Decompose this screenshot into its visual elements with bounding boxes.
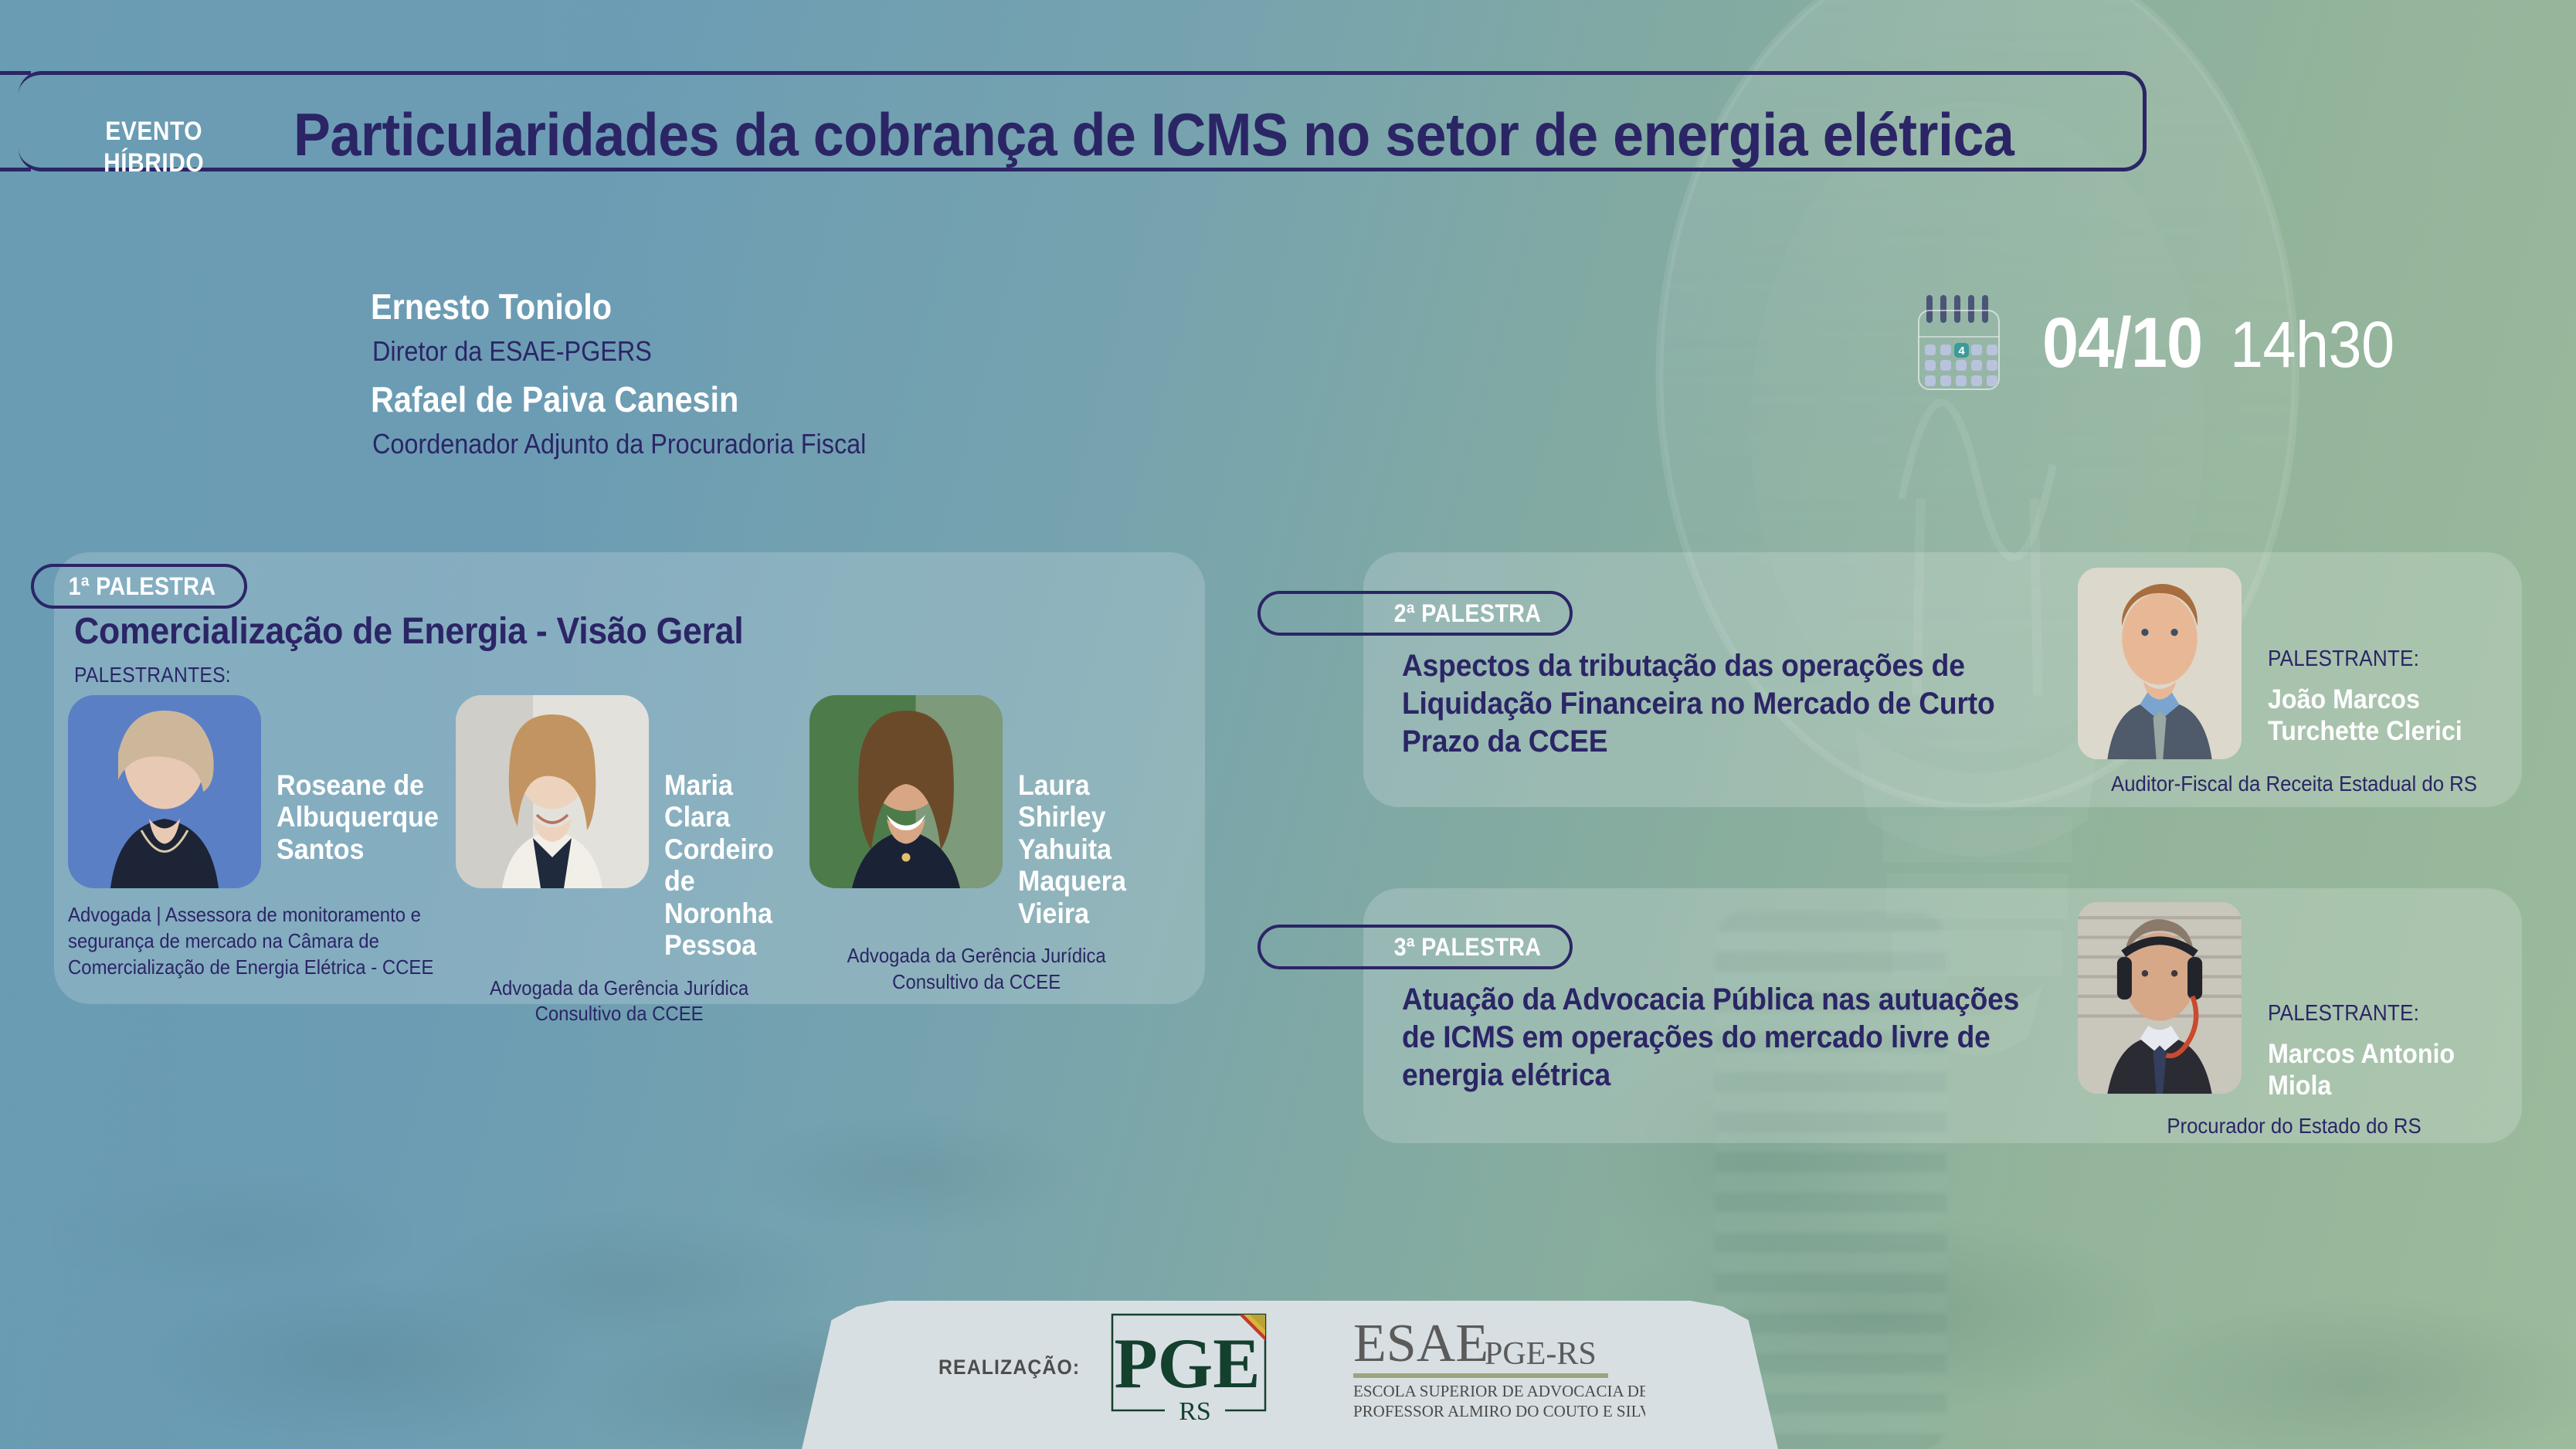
speaker-role-label: PALESTRANTE: xyxy=(2268,646,2486,672)
pge-rs-logo: PGE RS xyxy=(1106,1312,1284,1429)
schedule-block: 4 04/10 14h30 xyxy=(1916,294,2408,392)
talk-badge-label: 1ª PALESTRA xyxy=(69,572,216,601)
footer-bar xyxy=(742,1299,1838,1449)
speakers-label: PALESTRANTES: xyxy=(74,663,231,687)
esae-logo-line2: PROFESSOR ALMIRO DO COUTO E SILVA xyxy=(1353,1402,1645,1420)
talk-title-1: Comercialização de Energia - Visão Geral xyxy=(74,610,1065,653)
speaker-name: Laura Shirley Yahuita Maquera Vieira xyxy=(1018,769,1146,929)
event-date: 04/10 xyxy=(2042,303,2202,384)
avatar xyxy=(809,695,1003,888)
talk-badge-1: 1ª PALESTRA xyxy=(31,564,247,609)
talk-badge-label: 2ª PALESTRA xyxy=(1394,599,1542,628)
host-position: Diretor da ESAE-PGERS xyxy=(372,335,652,368)
avatar xyxy=(2078,902,2242,1094)
speaker-name: Maria Clara Cordeiro de Noronha Pessoa xyxy=(664,769,785,962)
speaker-card: Laura Shirley Yahuita Maquera Vieira Adv… xyxy=(809,695,1157,996)
speaker-card: Roseane de Albuquerque Santos Advogada |… xyxy=(68,695,470,980)
speaker-name: Roseane de Albuquerque Santos xyxy=(277,769,454,865)
event-type-line1: EVENTO xyxy=(93,116,215,148)
esae-logo-text: ESAE xyxy=(1353,1314,1488,1373)
event-poster: EVENTO HÍBRIDO Particularidades da cobra… xyxy=(0,0,2576,1449)
avatar xyxy=(456,695,649,888)
speaker-name: João Marcos Turchette Clerici xyxy=(2268,684,2491,747)
avatar xyxy=(2078,568,2242,759)
esae-pge-rs-logo: ESAE PGE-RS ESCOLA SUPERIOR DE ADVOCACIA… xyxy=(1352,1313,1645,1429)
pge-logo-text: PGE xyxy=(1114,1324,1260,1403)
calendar-icon: 4 xyxy=(1916,294,2007,392)
event-time: 14h30 xyxy=(2230,307,2394,382)
talk-badge-2: 2ª PALESTRA xyxy=(1257,591,1573,636)
esae-logo-line1: ESCOLA SUPERIOR DE ADVOCACIA DE ESTADO xyxy=(1353,1382,1645,1400)
host-name: Rafael de Paiva Canesin xyxy=(371,378,738,420)
speaker-role-label: PALESTRANTE: xyxy=(2268,1001,2486,1027)
speaker-position: Procurador do Estado do RS xyxy=(2095,1114,2493,1138)
speaker-card: PALESTRANTE: João Marcos Turchette Cleri… xyxy=(2078,568,2510,796)
realization-label: REALIZAÇÃO: xyxy=(938,1356,1080,1379)
host-position: Coordenador Adjunto da Procuradoria Fisc… xyxy=(372,428,866,460)
esae-logo-suffix: PGE-RS xyxy=(1485,1336,1597,1372)
avatar xyxy=(68,695,261,888)
speaker-position: Auditor-Fiscal da Receita Estadual do RS xyxy=(2095,772,2493,796)
speaker-name: Marcos Antonio Miola xyxy=(2268,1039,2491,1101)
event-type-line2: HÍBRIDO xyxy=(93,148,215,179)
speaker-bio: Advogada da Gerência Jurídica Consultivo… xyxy=(809,943,1129,996)
talk-badge-label: 3ª PALESTRA xyxy=(1394,933,1542,962)
talk-title-3: Atuação da Advocacia Pública nas autuaçõ… xyxy=(1402,981,2034,1094)
host-name: Ernesto Toniolo xyxy=(371,286,612,327)
page-title: Particularidades da cobrança de ICMS no … xyxy=(294,102,1957,167)
pge-logo-sub: RS xyxy=(1179,1397,1211,1426)
talk-title-2: Aspectos da tributação das operações de … xyxy=(1402,647,2034,760)
calendar-day-number: 4 xyxy=(1958,344,1965,358)
talk-badge-3: 3ª PALESTRA xyxy=(1257,925,1573,969)
speaker-card: Maria Clara Cordeiro de Noronha Pessoa A… xyxy=(456,695,796,1027)
speaker-bio: Advogada da Gerência Jurídica Consultivo… xyxy=(456,976,769,1028)
speaker-card: PALESTRANTE: Marcos Antonio Miola Procur… xyxy=(2078,902,2510,1138)
event-type-badge: EVENTO HÍBRIDO xyxy=(93,116,215,180)
speaker-bio: Advogada | Assessora de monitoramento e … xyxy=(68,902,437,980)
